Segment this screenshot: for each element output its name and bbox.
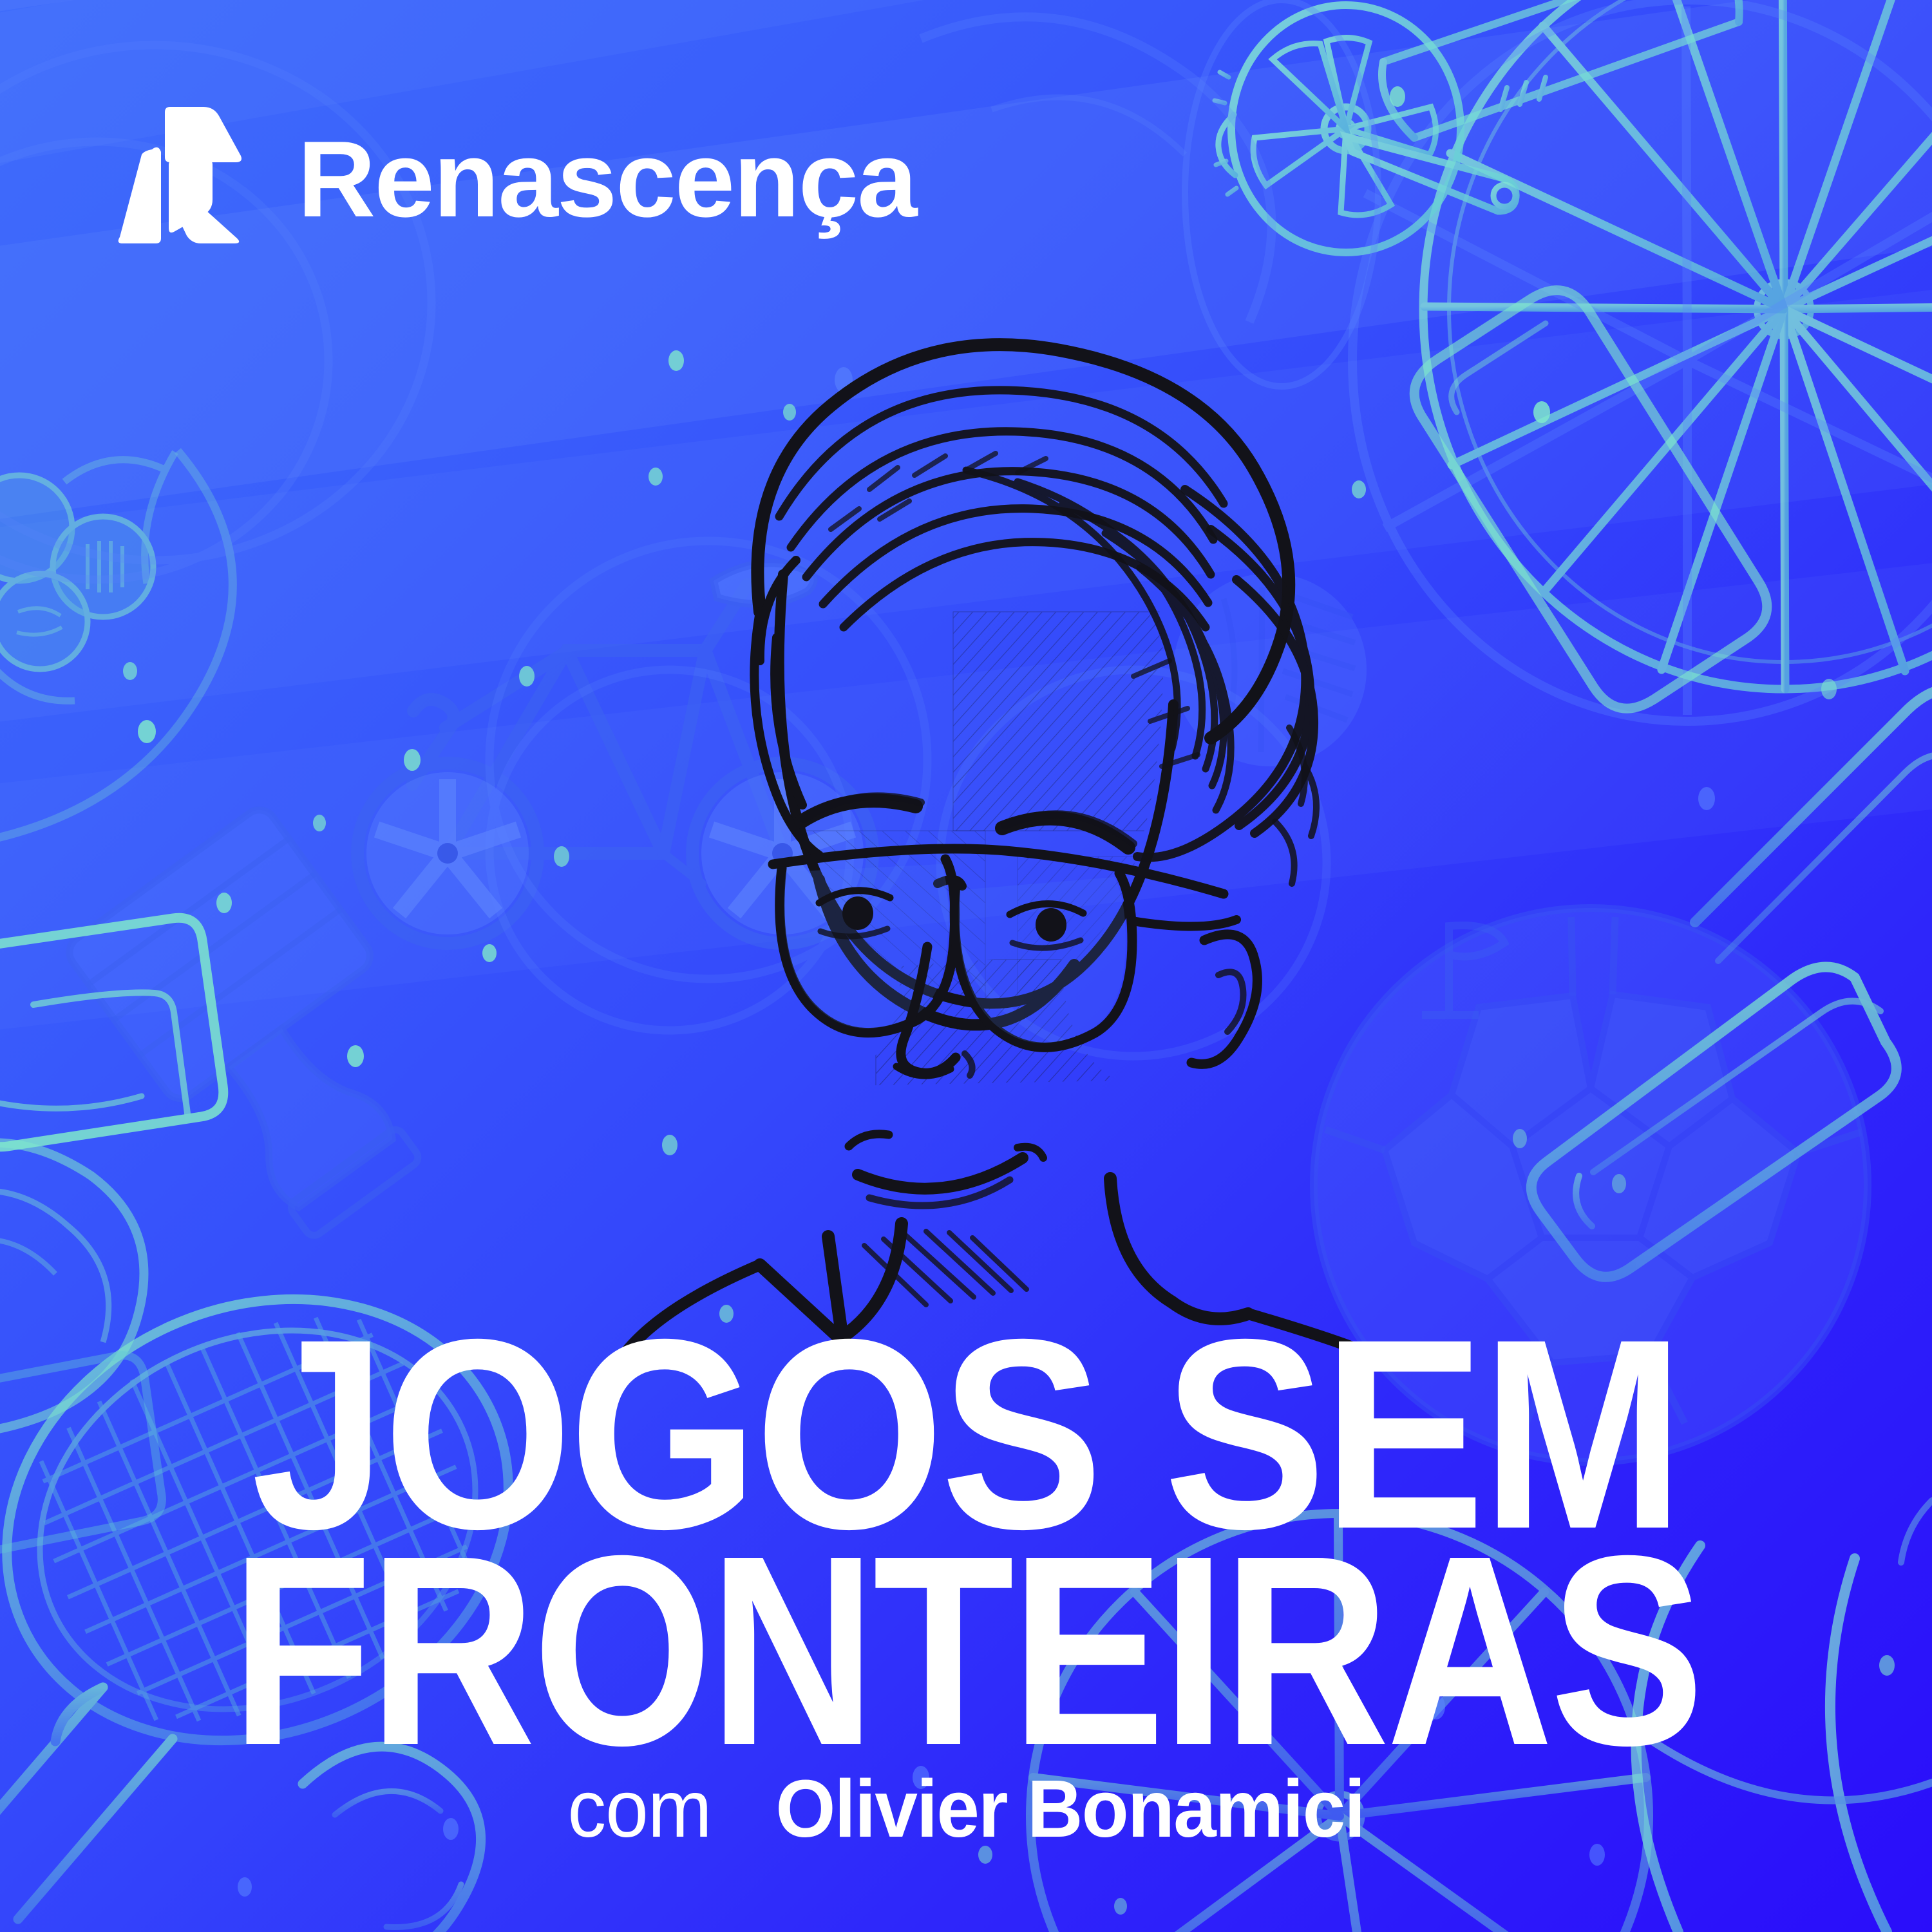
- rounded-mat-icon: [1695, 688, 1932, 961]
- baseball-icon: [1173, 573, 1367, 766]
- small-bicycle-icon: [357, 563, 873, 943]
- helmet-outline-icon: [921, 17, 1271, 322]
- podcast-cover-art: Renascença JOGOS SEM FRONTEIRAS com Oliv…: [0, 0, 1932, 1932]
- ball-cluster-icon: [0, 451, 232, 850]
- bicycle-sprocket-icon: [1185, 0, 1378, 386]
- title-line-2: FRONTEIRAS: [140, 1543, 1792, 1759]
- show-title: JOGOS SEM FRONTEIRAS: [0, 1327, 1932, 1759]
- renascenca-wordmark: Renascença: [298, 125, 916, 233]
- host-byline: com Olivier Bonamici: [48, 1768, 1884, 1850]
- byline-host-name: Olivier Bonamici: [775, 1763, 1364, 1854]
- renascenca-r-monogram-icon: [115, 104, 243, 246]
- renascenca-logo[interactable]: Renascença: [115, 104, 916, 246]
- byline-preposition: com: [567, 1763, 711, 1854]
